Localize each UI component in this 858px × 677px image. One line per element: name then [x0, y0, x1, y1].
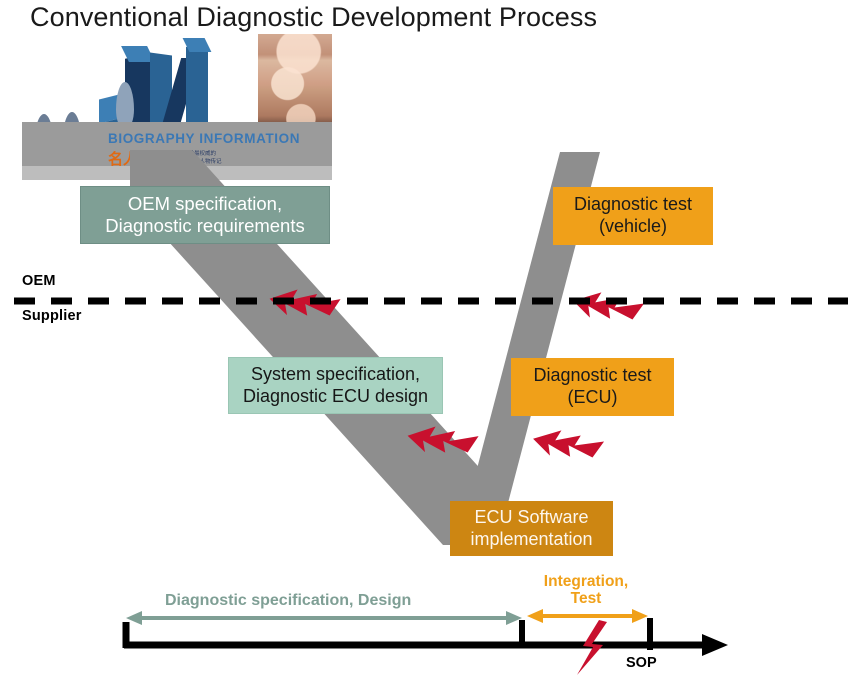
box-system-specification-line-1: System specification, — [251, 364, 420, 386]
box-system-specification-line-2: Diagnostic ECU design — [243, 386, 428, 408]
phase-integration-arrowhead-left — [527, 609, 543, 623]
timeline-label-sop: SOP — [626, 655, 657, 671]
box-system-specification[interactable]: System specification, Diagnostic ECU des… — [228, 357, 443, 414]
timeline-label-integration-line-1: Integration, — [527, 573, 645, 590]
box-diagnostic-test-vehicle-line-1: Diagnostic test — [574, 194, 692, 216]
box-ecu-software-line-1: ECU Software — [474, 507, 588, 529]
diagram-canvas: Conventional Diagnostic Development Proc… — [0, 0, 858, 677]
timeline-axis-arrowhead — [702, 634, 728, 656]
timeline-label-integration-test: Integration, Test — [527, 573, 645, 608]
box-diagnostic-test-vehicle[interactable]: Diagnostic test (vehicle) — [553, 187, 713, 245]
box-diagnostic-test-ecu[interactable]: Diagnostic test (ECU) — [511, 358, 674, 416]
timeline-label-diagnostic-specification: Diagnostic specification, Design — [165, 592, 411, 610]
lightning-bolt-3 — [530, 425, 604, 466]
box-oem-specification[interactable]: OEM specification, Diagnostic requiremen… — [80, 186, 330, 244]
box-diagnostic-test-ecu-line-2: (ECU) — [568, 387, 618, 409]
box-diagnostic-test-vehicle-line-2: (vehicle) — [599, 216, 667, 238]
box-ecu-software-line-2: implementation — [470, 529, 592, 551]
box-oem-specification-line-1: OEM specification, — [128, 193, 282, 215]
timeline-label-integration-line-2: Test — [527, 590, 645, 607]
divider-label-supplier: Supplier — [22, 308, 82, 324]
box-ecu-software-implementation[interactable]: ECU Software implementation — [450, 501, 613, 556]
lightning-bolt-4 — [570, 287, 644, 328]
diagram-vector-layer — [0, 0, 858, 677]
phase-integration-arrowhead-right — [632, 609, 648, 623]
box-diagnostic-test-ecu-line-1: Diagnostic test — [533, 365, 651, 387]
box-oem-specification-line-2: Diagnostic requirements — [105, 215, 304, 237]
divider-label-oem: OEM — [22, 273, 56, 289]
